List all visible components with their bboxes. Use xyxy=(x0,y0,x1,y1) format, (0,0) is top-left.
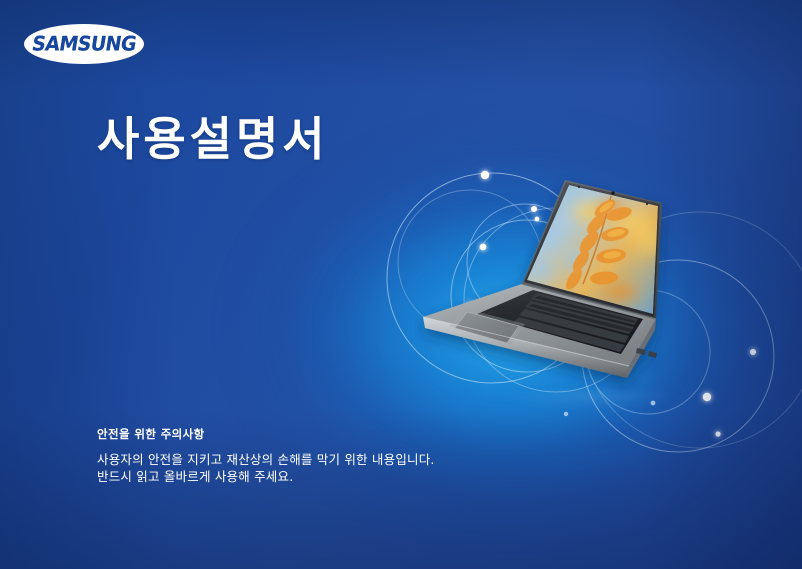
safety-notice-title: 안전을 위한 주의사항 xyxy=(97,426,435,442)
manual-cover-page: SAMSUNG 사용설명서 안전을 위한 주의사항 사용자의 안전을 지키고 재… xyxy=(0,0,802,569)
logo-wordmark: SAMSUNG xyxy=(21,23,148,65)
page-title: 사용설명서 xyxy=(97,113,329,166)
safety-notice-line-2: 반드시 읽고 올바르게 사용해 주세요. xyxy=(97,469,435,486)
samsung-logo: SAMSUNG xyxy=(24,24,144,64)
safety-notice-block: 안전을 위한 주의사항 사용자의 안전을 지키고 재산상의 손해를 막기 위한 … xyxy=(97,426,435,486)
safety-notice-line-1: 사용자의 안전을 지키고 재산상의 손해를 막기 위한 내용입니다. xyxy=(97,452,435,469)
